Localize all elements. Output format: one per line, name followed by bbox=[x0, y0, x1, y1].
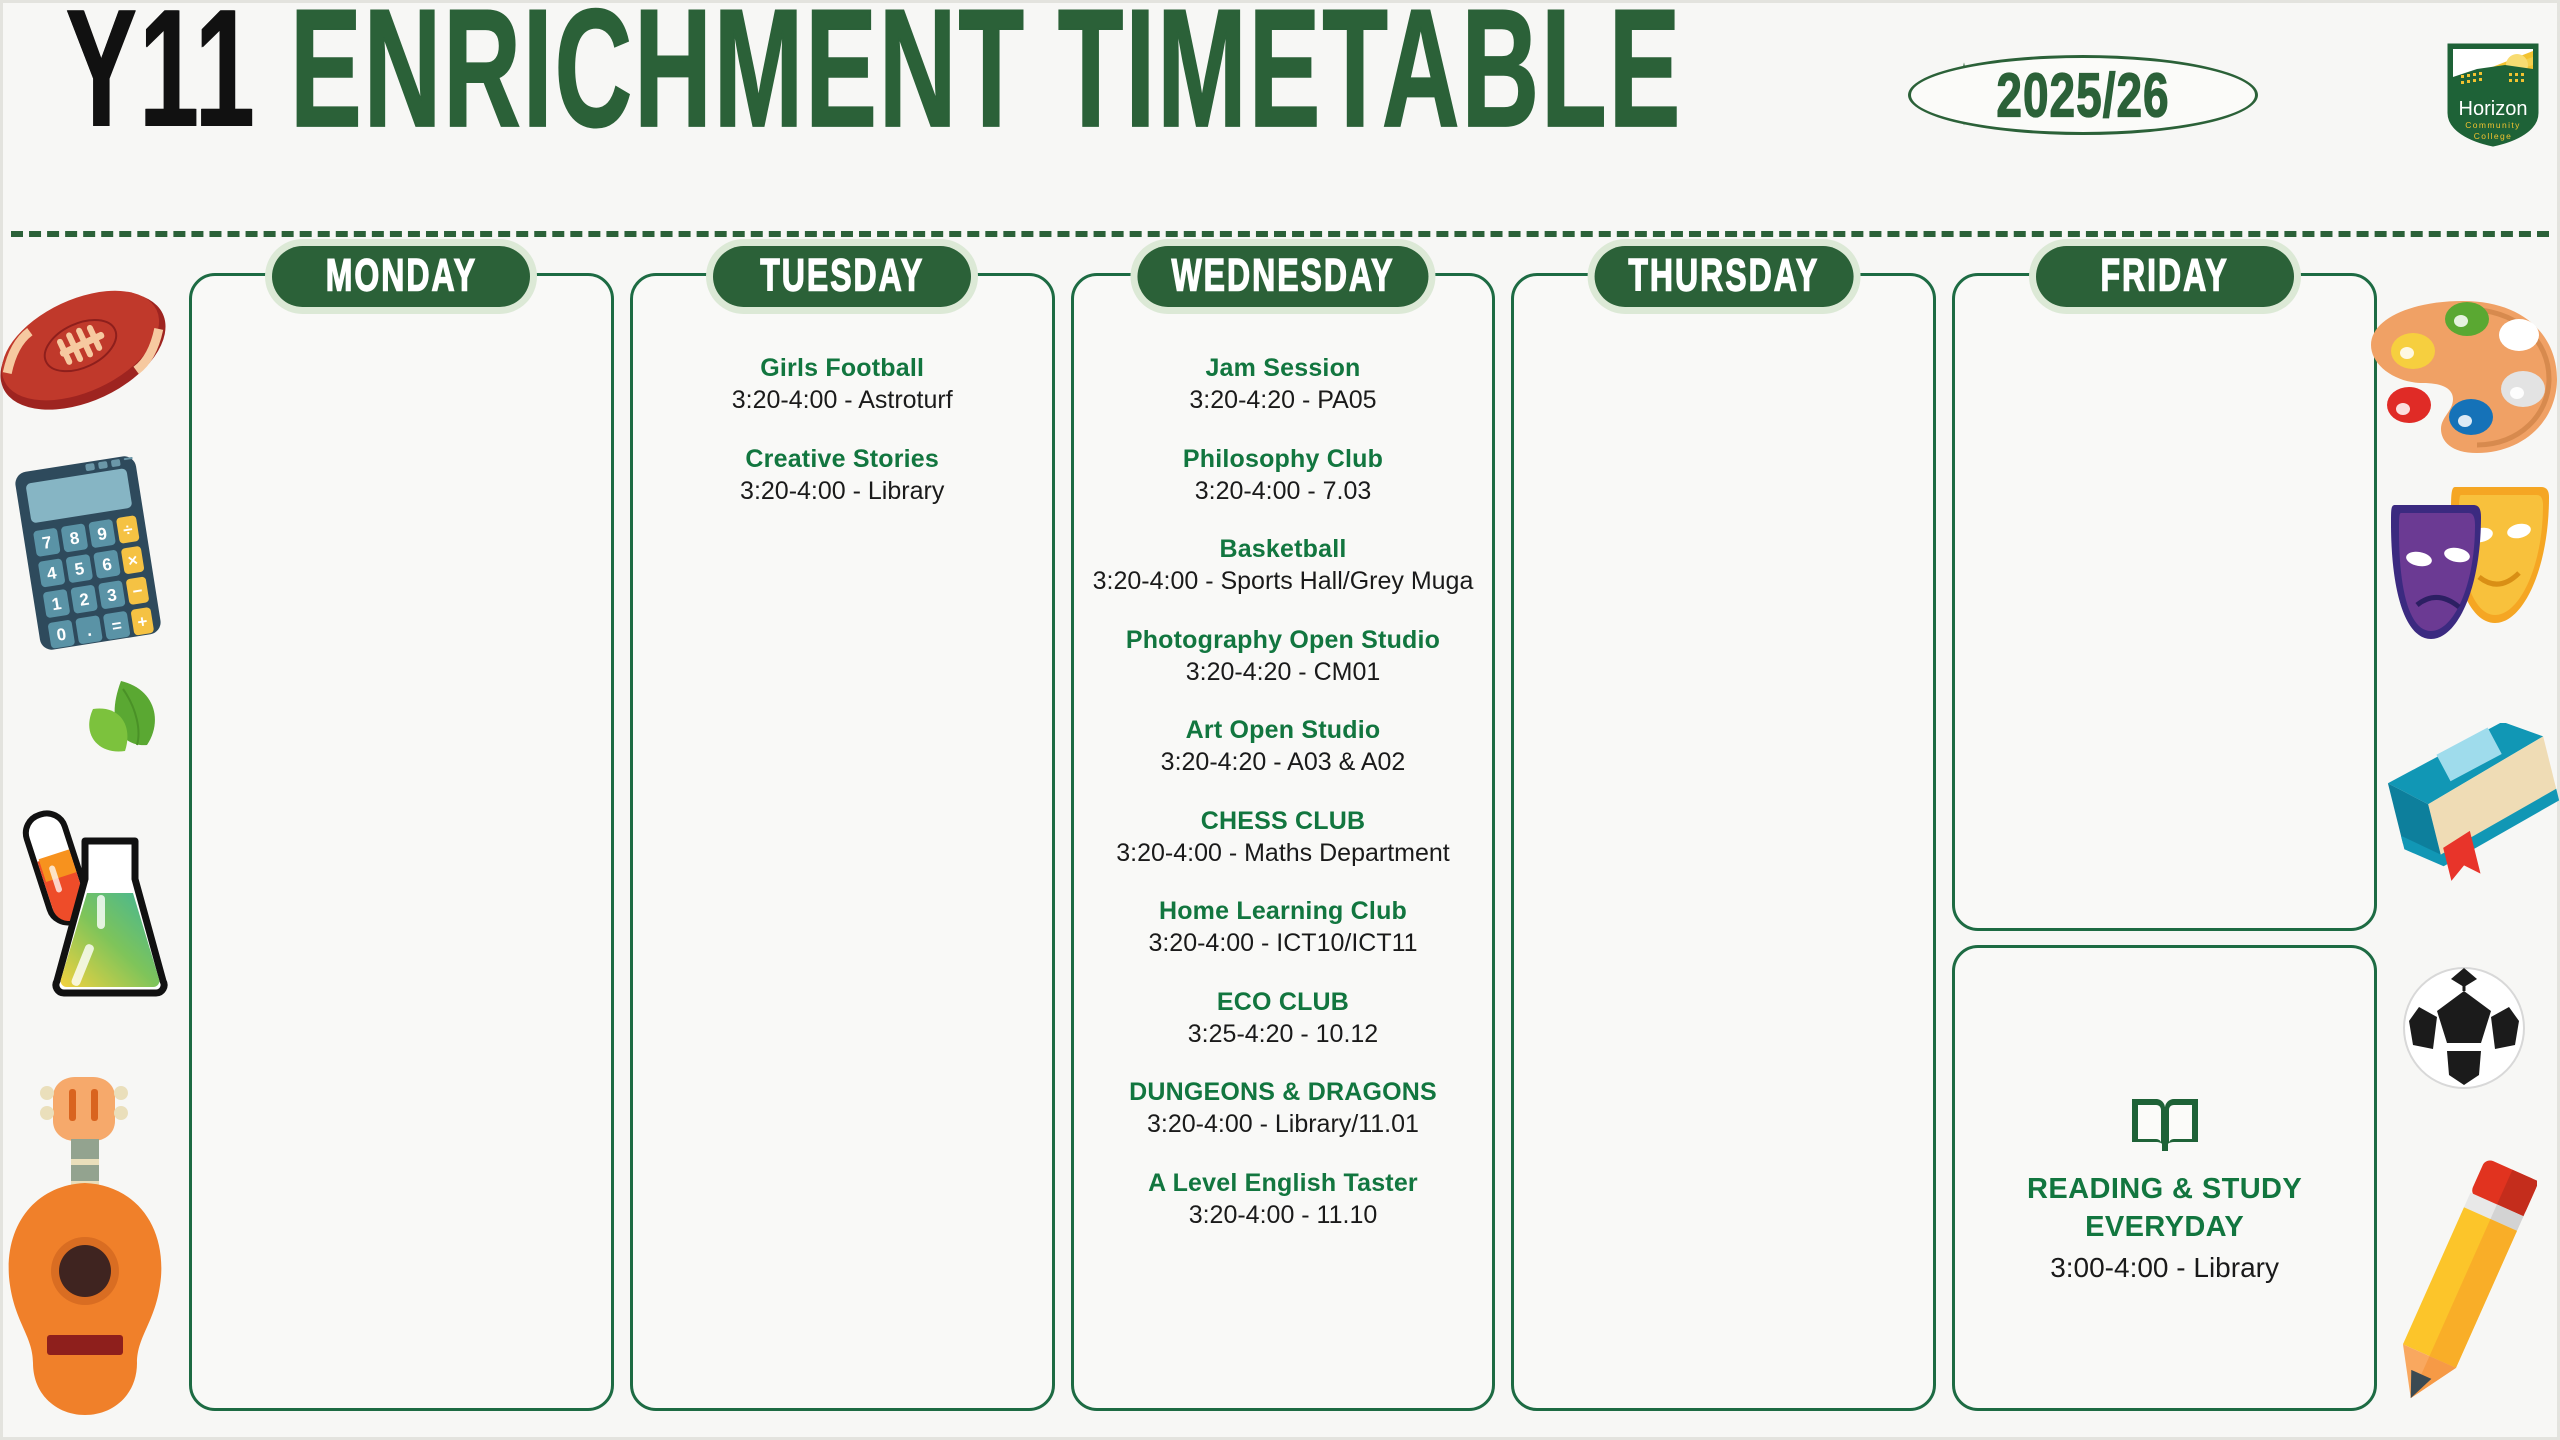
reading-study-card: READING & STUDY EVERYDAY 3:00-4:00 - Lib… bbox=[1952, 945, 2377, 1411]
event-detail: 3:20-4:00 - Astroturf bbox=[639, 384, 1046, 417]
day-header-friday[interactable]: FRIDAY bbox=[2036, 246, 2294, 307]
event-detail: 3:20-4:00 - 7.03 bbox=[1080, 475, 1487, 508]
event-item[interactable]: DUNGEONS & DRAGONS 3:20-4:00 - Library/1… bbox=[1080, 1076, 1487, 1141]
day-card-friday: FRIDAY bbox=[1952, 273, 2377, 931]
day-header-thursday[interactable]: THURSDAY bbox=[1594, 246, 1853, 307]
event-name: DUNGEONS & DRAGONS bbox=[1080, 1076, 1487, 1108]
event-detail: 3:20-4:00 - Sports Hall/Grey Muga bbox=[1080, 565, 1487, 598]
reading-study-title: READING & STUDY EVERYDAY bbox=[1969, 1171, 2360, 1246]
event-name: Basketball bbox=[1080, 533, 1487, 565]
event-item[interactable]: Basketball 3:20-4:00 - Sports Hall/Grey … bbox=[1080, 533, 1487, 598]
event-name: Home Learning Club bbox=[1080, 895, 1487, 927]
event-name: A Level English Taster bbox=[1080, 1167, 1487, 1199]
event-item[interactable]: Creative Stories 3:20-4:00 - Library bbox=[639, 443, 1046, 508]
acoustic-guitar-icon bbox=[5, 1063, 175, 1423]
event-item[interactable]: Photography Open Studio 3:20-4:20 - CM01 bbox=[1080, 624, 1487, 689]
event-detail: 3:20-4:00 - Library/11.01 bbox=[1080, 1108, 1487, 1141]
event-item[interactable]: Philosophy Club 3:20-4:00 - 7.03 bbox=[1080, 443, 1487, 508]
logo-name: Horizon bbox=[2459, 98, 2528, 120]
event-name: Creative Stories bbox=[639, 443, 1046, 475]
title-year-group: Y11 bbox=[65, 0, 256, 153]
day-column-friday: FRIDAY READING & STUDY EVERYDAY 3:00-4:0… bbox=[1944, 273, 2385, 1411]
day-label: WEDNESDAY bbox=[1171, 249, 1394, 302]
title-main-text: ENRICHMENT TIMETABLE bbox=[290, 0, 1682, 153]
timetable-poster: Y11 ENRICHMENT TIMETABLE 2025/26 bbox=[0, 0, 2560, 1440]
day-column-tuesday: TUESDAY Girls Football 3:20-4:00 - Astro… bbox=[622, 273, 1063, 1411]
soccer-ball-icon bbox=[2399, 963, 2529, 1093]
book-icon bbox=[2371, 723, 2560, 883]
day-column-wednesday: WEDNESDAY Jam Session 3:20-4:20 - PA05 P… bbox=[1063, 273, 1504, 1411]
day-card-monday: MONDAY bbox=[189, 273, 614, 1411]
event-item[interactable]: Jam Session 3:20-4:20 - PA05 bbox=[1080, 352, 1487, 417]
day-header-wednesday[interactable]: WEDNESDAY bbox=[1137, 246, 1428, 307]
event-detail: 3:20-4:20 - PA05 bbox=[1080, 384, 1487, 417]
day-label: FRIDAY bbox=[2070, 249, 2260, 302]
poster-header: Y11 ENRICHMENT TIMETABLE 2025/26 bbox=[3, 3, 2557, 235]
reading-study-detail: 3:00-4:00 - Library bbox=[2050, 1249, 2279, 1287]
american-football-icon bbox=[0, 271, 173, 431]
event-name: Photography Open Studio bbox=[1080, 624, 1487, 656]
event-name: Jam Session bbox=[1080, 352, 1487, 384]
event-item[interactable]: Girls Football 3:20-4:00 - Astroturf bbox=[639, 352, 1046, 417]
event-item[interactable]: CHESS CLUB 3:20-4:00 - Maths Department bbox=[1080, 805, 1487, 870]
calculator-icon: 7 8 9 ÷ 4 5 6 × 1 2 3 − 0 . = + bbox=[13, 453, 163, 653]
timetable-grid: MONDAY TUESDAY Girls Football 3:20-4:00 … bbox=[181, 273, 2385, 1411]
logo-line2: Community bbox=[2465, 120, 2521, 130]
day-header-monday[interactable]: MONDAY bbox=[272, 246, 530, 307]
logo-line3: College bbox=[2474, 131, 2513, 141]
open-book-icon bbox=[2126, 1093, 2204, 1155]
pencil-icon bbox=[2387, 1143, 2537, 1423]
leaves-icon bbox=[63, 675, 173, 775]
day-card-wednesday: WEDNESDAY Jam Session 3:20-4:20 - PA05 P… bbox=[1071, 273, 1496, 1411]
day-card-tuesday: TUESDAY Girls Football 3:20-4:00 - Astro… bbox=[630, 273, 1055, 1411]
event-detail: 3:20-4:20 - A03 & A02 bbox=[1080, 746, 1487, 779]
event-detail: 3:25-4:20 - 10.12 bbox=[1080, 1018, 1487, 1051]
event-list-wednesday: Jam Session 3:20-4:20 - PA05 Philosophy … bbox=[1074, 342, 1493, 1247]
event-detail: 3:20-4:00 - Library bbox=[639, 475, 1046, 508]
event-list-monday bbox=[192, 342, 611, 368]
paint-palette-icon bbox=[2367, 293, 2557, 473]
event-name: Philosophy Club bbox=[1080, 443, 1487, 475]
event-item[interactable]: A Level English Taster 3:20-4:00 - 11.10 bbox=[1080, 1167, 1487, 1232]
day-label: MONDAY bbox=[306, 249, 496, 302]
day-column-thursday: THURSDAY bbox=[1503, 273, 1944, 1411]
day-label: TUESDAY bbox=[747, 249, 937, 302]
academic-year-badge: 2025/26 bbox=[1908, 55, 2258, 135]
event-list-friday bbox=[1955, 342, 2374, 368]
event-detail: 3:20-4:00 - ICT10/ICT11 bbox=[1080, 927, 1487, 960]
event-name: CHESS CLUB bbox=[1080, 805, 1487, 837]
event-detail: 3:20-4:20 - CM01 bbox=[1080, 656, 1487, 689]
event-item[interactable]: Home Learning Club 3:20-4:00 - ICT10/ICT… bbox=[1080, 895, 1487, 960]
event-detail: 3:20-4:00 - 11.10 bbox=[1080, 1199, 1487, 1232]
event-list-tuesday: Girls Football 3:20-4:00 - Astroturf Cre… bbox=[633, 342, 1052, 523]
event-name: ECO CLUB bbox=[1080, 986, 1487, 1018]
theatre-masks-icon bbox=[2377, 473, 2557, 643]
day-label: THURSDAY bbox=[1628, 249, 1819, 302]
event-list-thursday bbox=[1514, 342, 1933, 368]
science-flask-icon bbox=[13, 783, 173, 1013]
header-divider bbox=[11, 231, 2549, 237]
event-name: Art Open Studio bbox=[1080, 714, 1487, 746]
event-item[interactable]: ECO CLUB 3:25-4:20 - 10.12 bbox=[1080, 986, 1487, 1051]
school-logo: Horizon Community College bbox=[2447, 43, 2539, 147]
event-detail: 3:20-4:00 - Maths Department bbox=[1080, 837, 1487, 870]
event-item[interactable]: Art Open Studio 3:20-4:20 - A03 & A02 bbox=[1080, 714, 1487, 779]
day-header-tuesday[interactable]: TUESDAY bbox=[713, 246, 971, 307]
day-card-thursday: THURSDAY bbox=[1511, 273, 1936, 1411]
year-badge-label: 2025/26 bbox=[1996, 59, 2169, 132]
page-title: Y11 ENRICHMENT TIMETABLE bbox=[65, 41, 1740, 153]
reading-study-panel: READING & STUDY EVERYDAY 3:00-4:00 - Lib… bbox=[1955, 982, 2374, 1408]
event-name: Girls Football bbox=[639, 352, 1046, 384]
day-column-monday: MONDAY bbox=[181, 273, 622, 1411]
